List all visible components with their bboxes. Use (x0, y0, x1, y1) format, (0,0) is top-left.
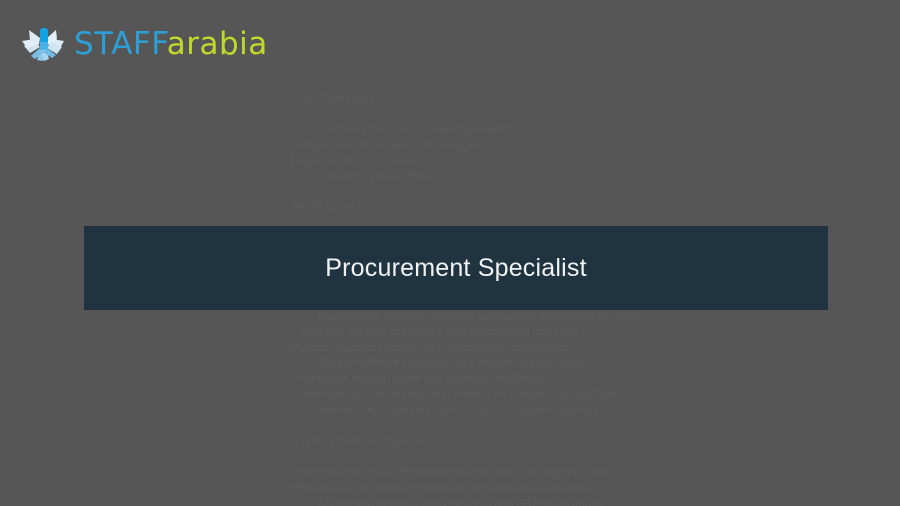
watermark-line: Knowledge of purchasing systems and ERP … (0, 497, 900, 506)
watermark-line: Position Title : Procurement Specialist (0, 122, 900, 138)
page-title: Procurement Specialist (325, 253, 586, 283)
snowflake-logo-icon (18, 20, 70, 68)
watermark-line (0, 185, 900, 201)
watermark-line: Maintain accurate procurement documentat… (0, 403, 900, 419)
watermark-line: Negotiate pricing, terms and contract co… (0, 372, 900, 388)
watermark-line: Prepare and process purchase requisition… (0, 310, 900, 326)
watermark-line: Location : Head Office (0, 169, 900, 185)
watermark-line (0, 107, 900, 123)
watermark-line (0, 419, 900, 435)
logo-wordmark-secondary: arabia (167, 26, 268, 62)
staffarabia-logo[interactable]: STAFFarabia (18, 20, 268, 68)
logo-wordmark: STAFFarabia (74, 29, 268, 60)
watermark-line (0, 76, 900, 92)
watermark-line: Monitor delivery schedules and resolve s… (0, 356, 900, 372)
watermark-line (0, 450, 900, 466)
watermark-line: Qualifications and Experience (0, 434, 900, 450)
watermark-line: Evaluate supplier quotations and recomme… (0, 325, 900, 341)
watermark-line: Minimum three years experience in a proc… (0, 481, 900, 497)
watermark-line: Bachelor degree in Business Administrati… (0, 465, 900, 481)
title-banner: Procurement Specialist (84, 226, 828, 310)
watermark-line: Coordinate with warehouse and finance on… (0, 387, 900, 403)
watermark-line: Job Description (0, 91, 900, 107)
slide-canvas: Job Description Position Title : Procure… (0, 0, 900, 506)
watermark-line: Job Purpose (0, 200, 900, 216)
watermark-line: Department : Procurement (0, 154, 900, 170)
logo-wordmark-primary: STAFF (74, 26, 167, 62)
watermark-line: Reports To : Procurement Manager (0, 138, 900, 154)
watermark-line: Maintain supplier records and performanc… (0, 341, 900, 357)
